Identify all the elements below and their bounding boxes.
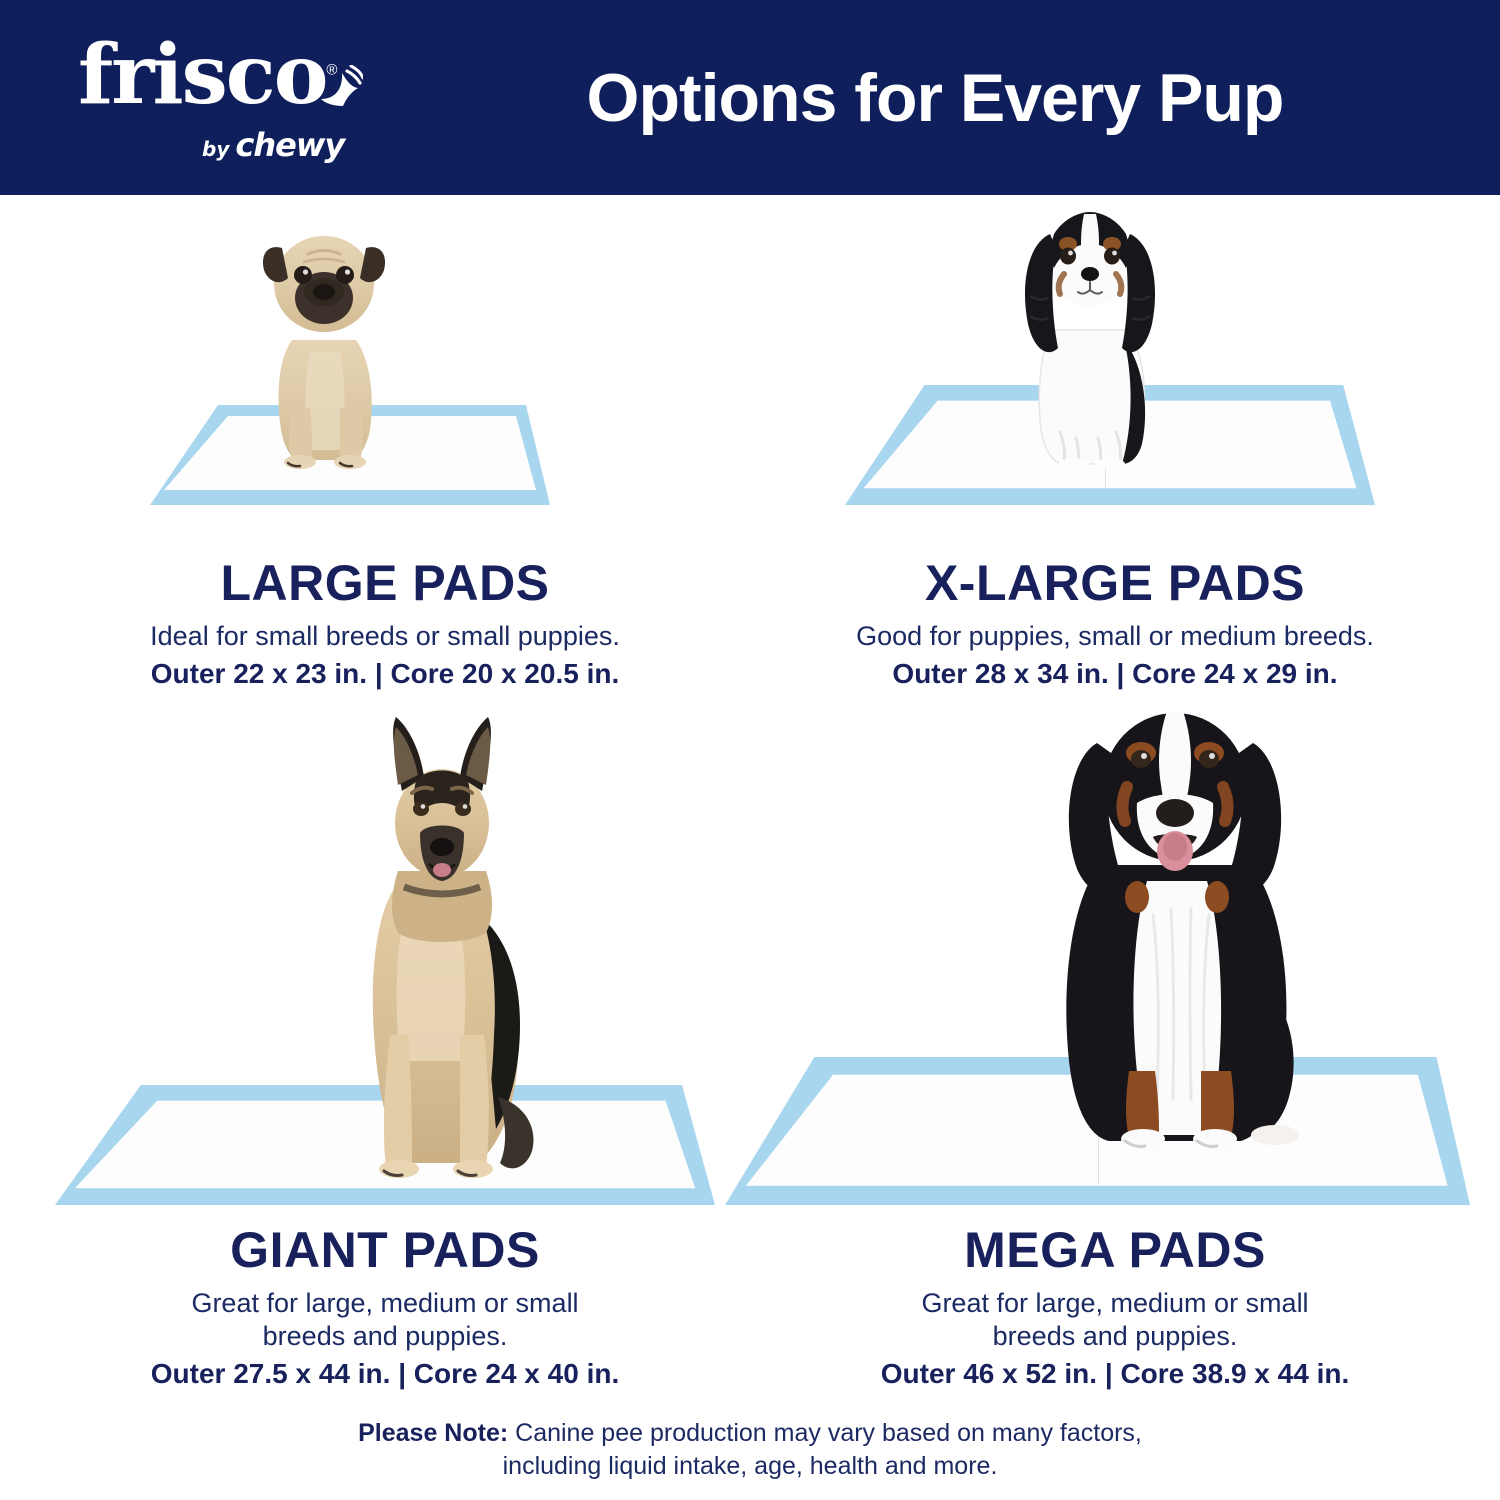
product-description-giant: Great for large, medium or small breeds …: [20, 1287, 750, 1353]
registered-trademark-icon: ®: [326, 62, 337, 79]
dog-illustration-cavalier-king-charles-spaniel: [1000, 200, 1180, 468]
product-title-x-large: X-LARGE PADS: [750, 556, 1480, 610]
product-title-large: LARGE PADS: [20, 556, 750, 610]
footnote: Please Note: Canine pee production may v…: [0, 1417, 1500, 1482]
product-description-giant-line2: breeds and puppies.: [20, 1320, 750, 1353]
brand-parent-label: chewy: [235, 126, 344, 164]
product-description-giant-line1: Great for large, medium or small: [20, 1287, 750, 1320]
product-description-mega-line2: breeds and puppies.: [750, 1320, 1480, 1353]
brand-word-text: frisco: [78, 27, 326, 123]
brand-wordmark: frisco®: [78, 34, 337, 116]
product-description-large: Ideal for small breeds or small puppies.: [20, 620, 750, 653]
product-caption-x-large: X-LARGE PADS Good for puppies, small or …: [750, 556, 1480, 691]
footnote-text-1: Canine pee production may vary based on …: [508, 1419, 1142, 1447]
product-card-x-large: X-LARGE PADS Good for puppies, small or …: [750, 200, 1480, 680]
product-description-x-large: Good for puppies, small or medium breeds…: [750, 620, 1480, 653]
product-title-mega: MEGA PADS: [750, 1223, 1480, 1277]
product-scene-giant: [20, 685, 750, 1205]
footnote-line-1: Please Note: Canine pee production may v…: [0, 1417, 1500, 1450]
product-caption-giant: GIANT PADS Great for large, medium or sm…: [20, 1223, 750, 1390]
product-card-giant: GIANT PADS Great for large, medium or sm…: [20, 685, 750, 1395]
brand-tagline: by chewy: [202, 126, 344, 164]
product-card-mega: MEGA PADS Great for large, medium or sma…: [750, 685, 1480, 1395]
brand-by-label: by: [202, 137, 229, 161]
product-description-mega: Great for large, medium or small breeds …: [750, 1287, 1480, 1353]
dog-illustration-bernese-mountain-dog: [1025, 685, 1325, 1155]
product-caption-mega: MEGA PADS Great for large, medium or sma…: [750, 1223, 1480, 1390]
page-title: Options for Every Pup: [420, 0, 1450, 195]
product-scene-mega: [750, 685, 1480, 1205]
product-dimensions-giant: Outer 27.5 x 44 in. | Core 24 x 40 in.: [20, 1357, 750, 1391]
dog-illustration-german-shepherd: [320, 705, 565, 1183]
product-scene-x-large: [750, 200, 1480, 530]
product-dimensions-mega: Outer 46 x 52 in. | Core 38.9 x 44 in.: [750, 1357, 1480, 1391]
frisco-logo: frisco® by chewy: [78, 34, 378, 164]
dog-illustration-pug: [242, 222, 407, 472]
product-grid: LARGE PADS Ideal for small breeds or sma…: [0, 195, 1500, 1500]
product-card-large: LARGE PADS Ideal for small breeds or sma…: [20, 200, 750, 680]
footnote-label: Please Note:: [358, 1419, 508, 1447]
header-bar: frisco® by chewy Options for Every Pup: [0, 0, 1500, 195]
infographic-page: frisco® by chewy Options for Every Pup: [0, 0, 1500, 1500]
product-title-giant: GIANT PADS: [20, 1223, 750, 1277]
product-caption-large: LARGE PADS Ideal for small breeds or sma…: [20, 556, 750, 691]
product-description-mega-line1: Great for large, medium or small: [750, 1287, 1480, 1320]
product-scene-large: [20, 200, 750, 530]
footnote-line-2: including liquid intake, age, health and…: [0, 1450, 1500, 1483]
